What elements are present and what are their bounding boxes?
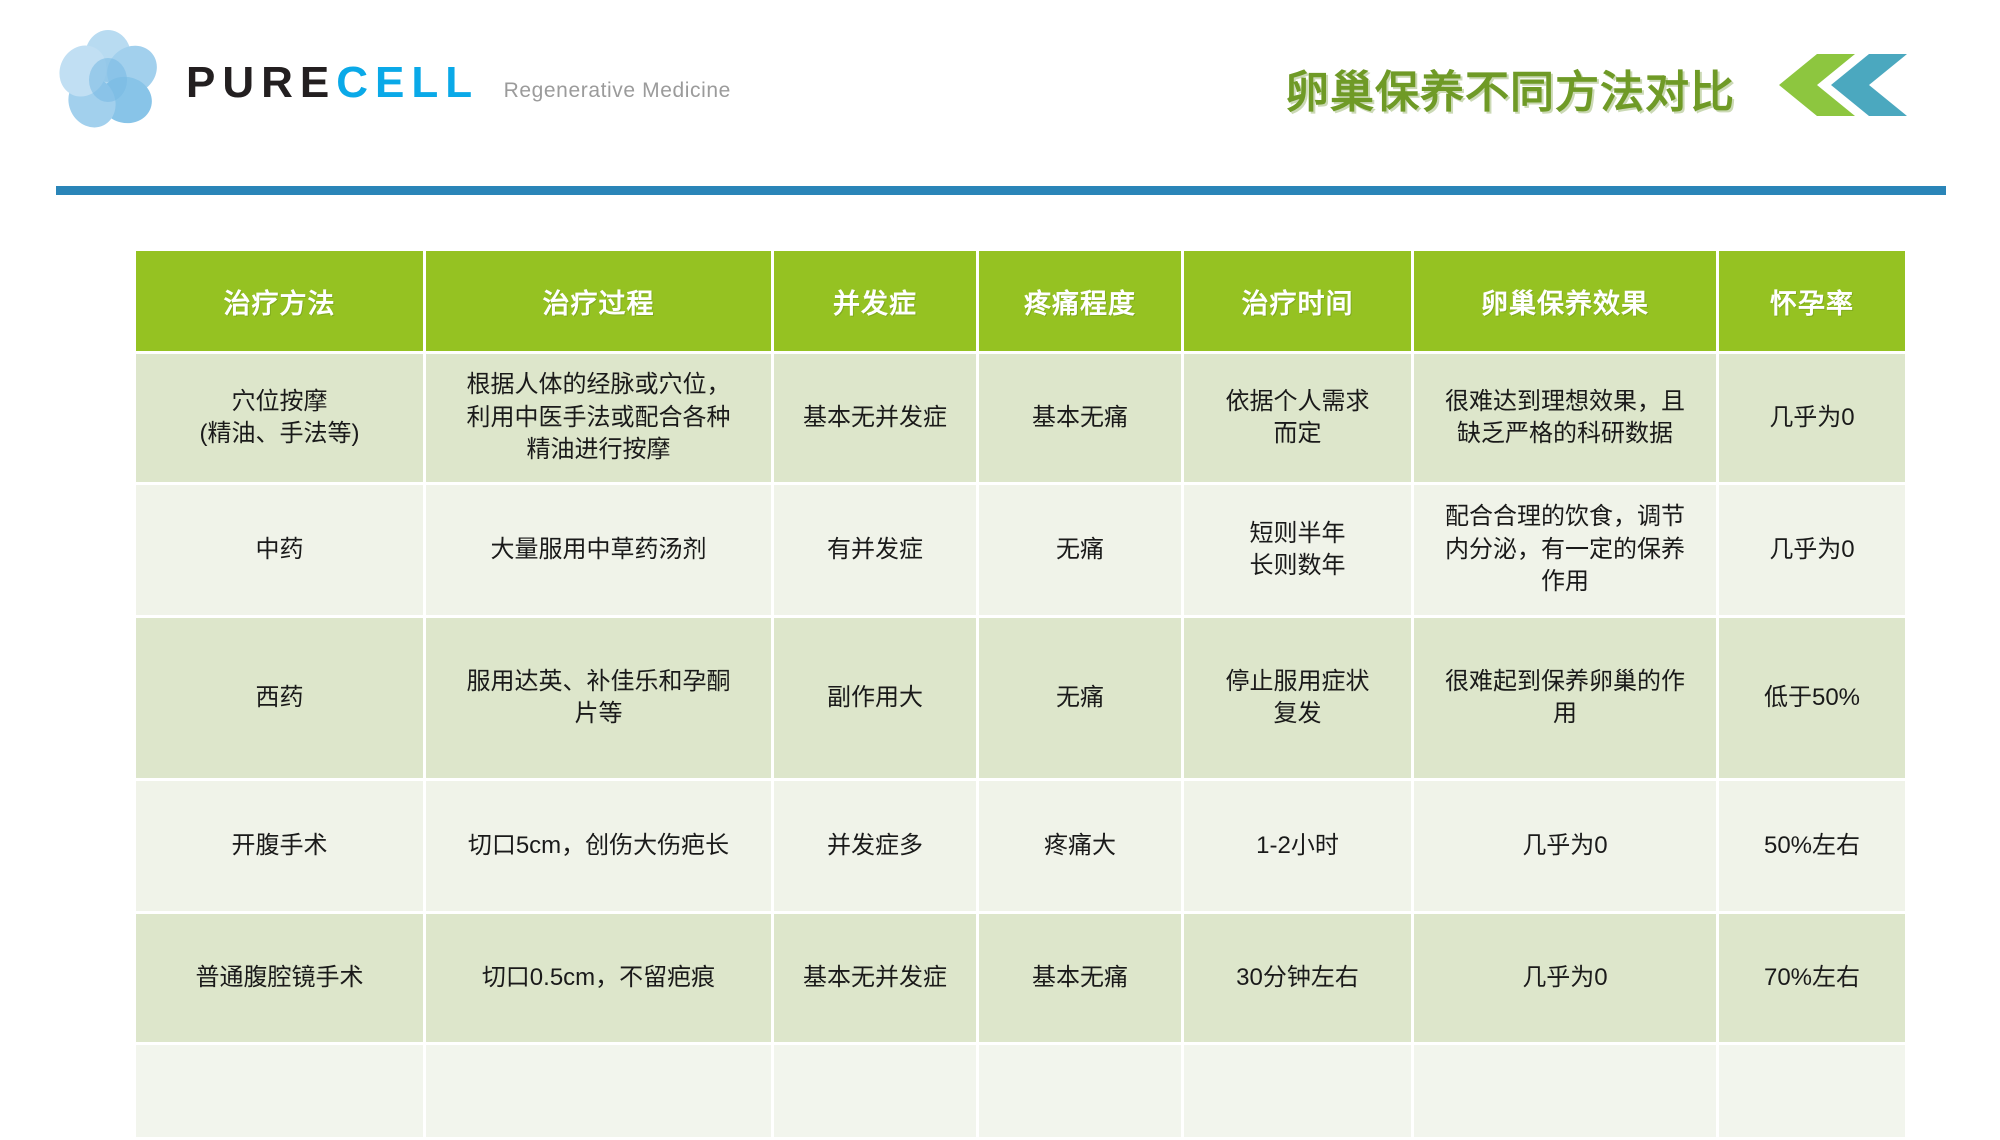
- cell-empty: [979, 1045, 1181, 1137]
- cell-pain: 疼痛大: [979, 781, 1181, 911]
- cell-pregnancy: 70%左右: [1719, 914, 1905, 1042]
- cell-effect: 几乎为0: [1414, 914, 1716, 1042]
- header-divider: [56, 186, 1946, 195]
- brand-name-pure: PURE: [186, 58, 336, 107]
- brand-logo: PURECELL Regenerative Medicine: [56, 28, 731, 132]
- cell-effect: 配合合理的饮食，调节 内分泌，有一定的保养 作用: [1414, 485, 1716, 615]
- cell-empty: [1719, 1045, 1905, 1137]
- cell-complication: 基本无并发症: [774, 354, 976, 482]
- cell-empty: [1184, 1045, 1411, 1137]
- column-header-method: 治疗方法: [136, 251, 423, 351]
- cell-process: 切口5cm，创伤大伤疤长: [426, 781, 771, 911]
- comparison-table-container: 治疗方法 治疗过程 并发症 疼痛程度 治疗时间 卵巢保养效果 怀孕率 穴位按摩 …: [133, 248, 1870, 1140]
- cell-process: 根据人体的经脉或穴位， 利用中医手法或配合各种 精油进行按摩: [426, 354, 771, 482]
- cell-empty: [426, 1045, 771, 1137]
- brand-name-cell: CELL: [336, 58, 478, 107]
- cell-pain: 无痛: [979, 485, 1181, 615]
- table-row-empty: [136, 1045, 1905, 1137]
- flower-petal-logo-icon: [56, 28, 160, 132]
- cell-process: 服用达英、补佳乐和孕酮 片等: [426, 618, 771, 778]
- cell-pregnancy: 几乎为0: [1719, 485, 1905, 615]
- cell-pain: 基本无痛: [979, 354, 1181, 482]
- cell-pain: 无痛: [979, 618, 1181, 778]
- cell-pregnancy: 低于50%: [1719, 618, 1905, 778]
- table-row: 中药 大量服用中草药汤剂 有并发症 无痛 短则半年 长则数年 配合合理的饮食，调…: [136, 485, 1905, 615]
- cell-complication: 有并发症: [774, 485, 976, 615]
- column-header-complication: 并发症: [774, 251, 976, 351]
- cell-process: 大量服用中草药汤剂: [426, 485, 771, 615]
- cell-effect: 很难起到保养卵巢的作 用: [1414, 618, 1716, 778]
- table-row: 普通腹腔镜手术 切口0.5cm，不留疤痕 基本无并发症 基本无痛 30分钟左右 …: [136, 914, 1905, 1042]
- table-row: 开腹手术 切口5cm，创伤大伤疤长 并发症多 疼痛大 1-2小时 几乎为0 50…: [136, 781, 1905, 911]
- cell-method: 西药: [136, 618, 423, 778]
- cell-empty: [774, 1045, 976, 1137]
- page-header: PURECELL Regenerative Medicine 卵巢保养不同方法对…: [0, 0, 2000, 172]
- table-row: 穴位按摩 (精油、手法等) 根据人体的经脉或穴位， 利用中医手法或配合各种 精油…: [136, 354, 1905, 482]
- cell-complication: 基本无并发症: [774, 914, 976, 1042]
- column-header-duration: 治疗时间: [1184, 251, 1411, 351]
- cell-method: 开腹手术: [136, 781, 423, 911]
- column-header-pregnancy: 怀孕率: [1719, 251, 1905, 351]
- cell-pregnancy: 几乎为0: [1719, 354, 1905, 482]
- column-header-effect: 卵巢保养效果: [1414, 251, 1716, 351]
- cell-empty: [1414, 1045, 1716, 1137]
- brand-tagline: Regenerative Medicine: [504, 79, 731, 102]
- double-chevron-left-icon: [1755, 52, 1915, 118]
- cell-complication: 并发症多: [774, 781, 976, 911]
- cell-complication: 副作用大: [774, 618, 976, 778]
- table-header-row: 治疗方法 治疗过程 并发症 疼痛程度 治疗时间 卵巢保养效果 怀孕率: [136, 251, 1905, 351]
- cell-method: 普通腹腔镜手术: [136, 914, 423, 1042]
- brand-wordmark: PURECELL Regenerative Medicine: [186, 55, 731, 105]
- cell-effect: 几乎为0: [1414, 781, 1716, 911]
- cell-pregnancy: 50%左右: [1719, 781, 1905, 911]
- cell-duration: 短则半年 长则数年: [1184, 485, 1411, 615]
- cell-duration: 依据个人需求 而定: [1184, 354, 1411, 482]
- cell-duration: 1-2小时: [1184, 781, 1411, 911]
- cell-duration: 停止服用症状 复发: [1184, 618, 1411, 778]
- column-header-pain: 疼痛程度: [979, 251, 1181, 351]
- cell-effect: 很难达到理想效果，且 缺乏严格的科研数据: [1414, 354, 1716, 482]
- cell-method: 穴位按摩 (精油、手法等): [136, 354, 423, 482]
- table-row: 西药 服用达英、补佳乐和孕酮 片等 副作用大 无痛 停止服用症状 复发 很难起到…: [136, 618, 1905, 778]
- cell-method: 中药: [136, 485, 423, 615]
- page-title: 卵巢保养不同方法对比: [1285, 56, 1735, 120]
- comparison-table: 治疗方法 治疗过程 并发症 疼痛程度 治疗时间 卵巢保养效果 怀孕率 穴位按摩 …: [133, 248, 1908, 1140]
- column-header-process: 治疗过程: [426, 251, 771, 351]
- cell-process: 切口0.5cm，不留疤痕: [426, 914, 771, 1042]
- cell-empty: [136, 1045, 423, 1137]
- cell-duration: 30分钟左右: [1184, 914, 1411, 1042]
- cell-pain: 基本无痛: [979, 914, 1181, 1042]
